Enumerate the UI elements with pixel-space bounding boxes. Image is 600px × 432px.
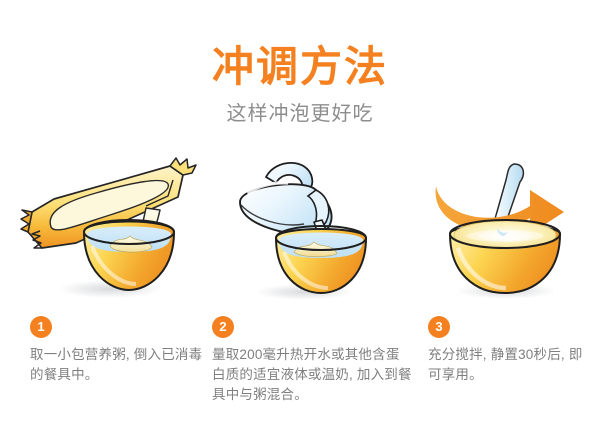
page-title: 冲调方法 (0, 0, 600, 90)
step-3-text: 充分搅拌, 静置30秒后, 即可享用。 (428, 345, 588, 385)
illustration-row (0, 150, 600, 310)
illustration-pitcher-pouring (232, 150, 392, 310)
illustration-stirring (420, 150, 590, 310)
instruction-poster: 冲调方法 这样冲泡更好吃 (0, 0, 600, 432)
step-1-text: 取一小包营养粥, 倒入已消毒的餐具中。 (30, 345, 205, 385)
step-3: 3 充分搅拌, 静置30秒后, 即可享用。 (428, 316, 588, 385)
illustration-sachet-pouring (18, 150, 208, 310)
step-3-badge: 3 (428, 316, 450, 338)
steps-container: 1 取一小包营养粥, 倒入已消毒的餐具中。 2 量取200毫升热开水或其他含蛋白… (0, 316, 600, 432)
step-2: 2 量取200毫升热开水或其他含蛋白质的适宜液体或温奶, 加入到餐具中与粥混合。 (212, 316, 412, 405)
bowl (84, 220, 174, 290)
poster-header: 冲调方法 这样冲泡更好吃 (0, 0, 600, 126)
bowl-with-porridge (450, 220, 560, 293)
page-subtitle: 这样冲泡更好吃 (0, 90, 600, 126)
step-2-text: 量取200毫升热开水或其他含蛋白质的适宜液体或温奶, 加入到餐具中与粥混合。 (212, 345, 412, 405)
bowl-with-powder (276, 226, 366, 293)
step-1-badge: 1 (30, 316, 52, 338)
step-1: 1 取一小包营养粥, 倒入已消毒的餐具中。 (30, 316, 205, 385)
step-2-badge: 2 (212, 316, 234, 338)
